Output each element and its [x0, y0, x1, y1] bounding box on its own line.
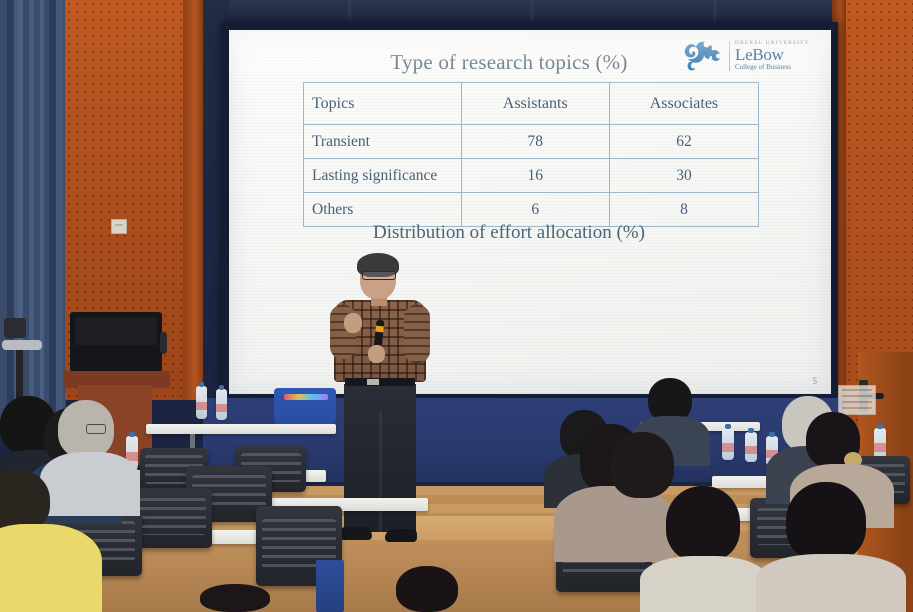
research-topics-table: Topics Assistants Associates Transient 7…: [303, 82, 759, 227]
audience-head: [200, 584, 270, 612]
audience-head: [786, 482, 866, 562]
audience-shoulders: [0, 524, 102, 612]
lectern-monitor: [70, 312, 162, 372]
left-wall-edge: [183, 0, 203, 400]
audience-head: [396, 566, 458, 612]
table-row: Lasting significance 16 30: [304, 159, 759, 193]
cell-assistants: 78: [461, 125, 609, 159]
audience-head: [0, 470, 50, 532]
cell-associates: 30: [609, 159, 758, 193]
slide-page-number: 5: [813, 376, 818, 386]
cell-associates: 62: [609, 125, 758, 159]
glasses-icon: [86, 424, 106, 434]
presenter-hand-left: [344, 313, 362, 333]
camera-mount: [2, 340, 42, 350]
lecture-hall-photo: Type of research topics (%) DREXEL UNIVE…: [0, 0, 913, 612]
desk: [146, 424, 336, 434]
wall-outlet: [111, 219, 127, 234]
water-bottle: [216, 389, 227, 420]
presenter-shoe-left: [340, 527, 372, 540]
camera-icon: [4, 318, 26, 338]
audience-shoulders: [40, 452, 140, 516]
presenter-shoe-right: [385, 529, 417, 542]
chair-logo-decal: [284, 394, 328, 400]
screen-glare: [229, 30, 831, 90]
slide-subtitle: Distribution of effort allocation (%): [229, 222, 789, 244]
presenter-arm-right: [404, 305, 430, 363]
cell-topic: Lasting significance: [304, 159, 462, 193]
table-row: Transient 78 62: [304, 125, 759, 159]
cell-assistants: 16: [461, 159, 609, 193]
audience-head: [610, 432, 674, 498]
audience-shoulders: [640, 556, 768, 612]
water-bottle: [196, 386, 207, 419]
wall-sign: [838, 385, 876, 415]
audience-shoulders: [554, 486, 674, 562]
audience-shoulders: [756, 554, 906, 612]
audience-head: [666, 486, 740, 562]
shopping-bag: [316, 560, 344, 612]
glasses-icon: [362, 271, 396, 280]
presenter-belt: [345, 378, 415, 386]
water-bottle: [745, 432, 757, 462]
water-bottle: [722, 428, 734, 460]
cell-topic: Transient: [304, 125, 462, 159]
gooseneck-mic-icon: [160, 332, 167, 354]
presenter-hand-right: [368, 345, 385, 363]
